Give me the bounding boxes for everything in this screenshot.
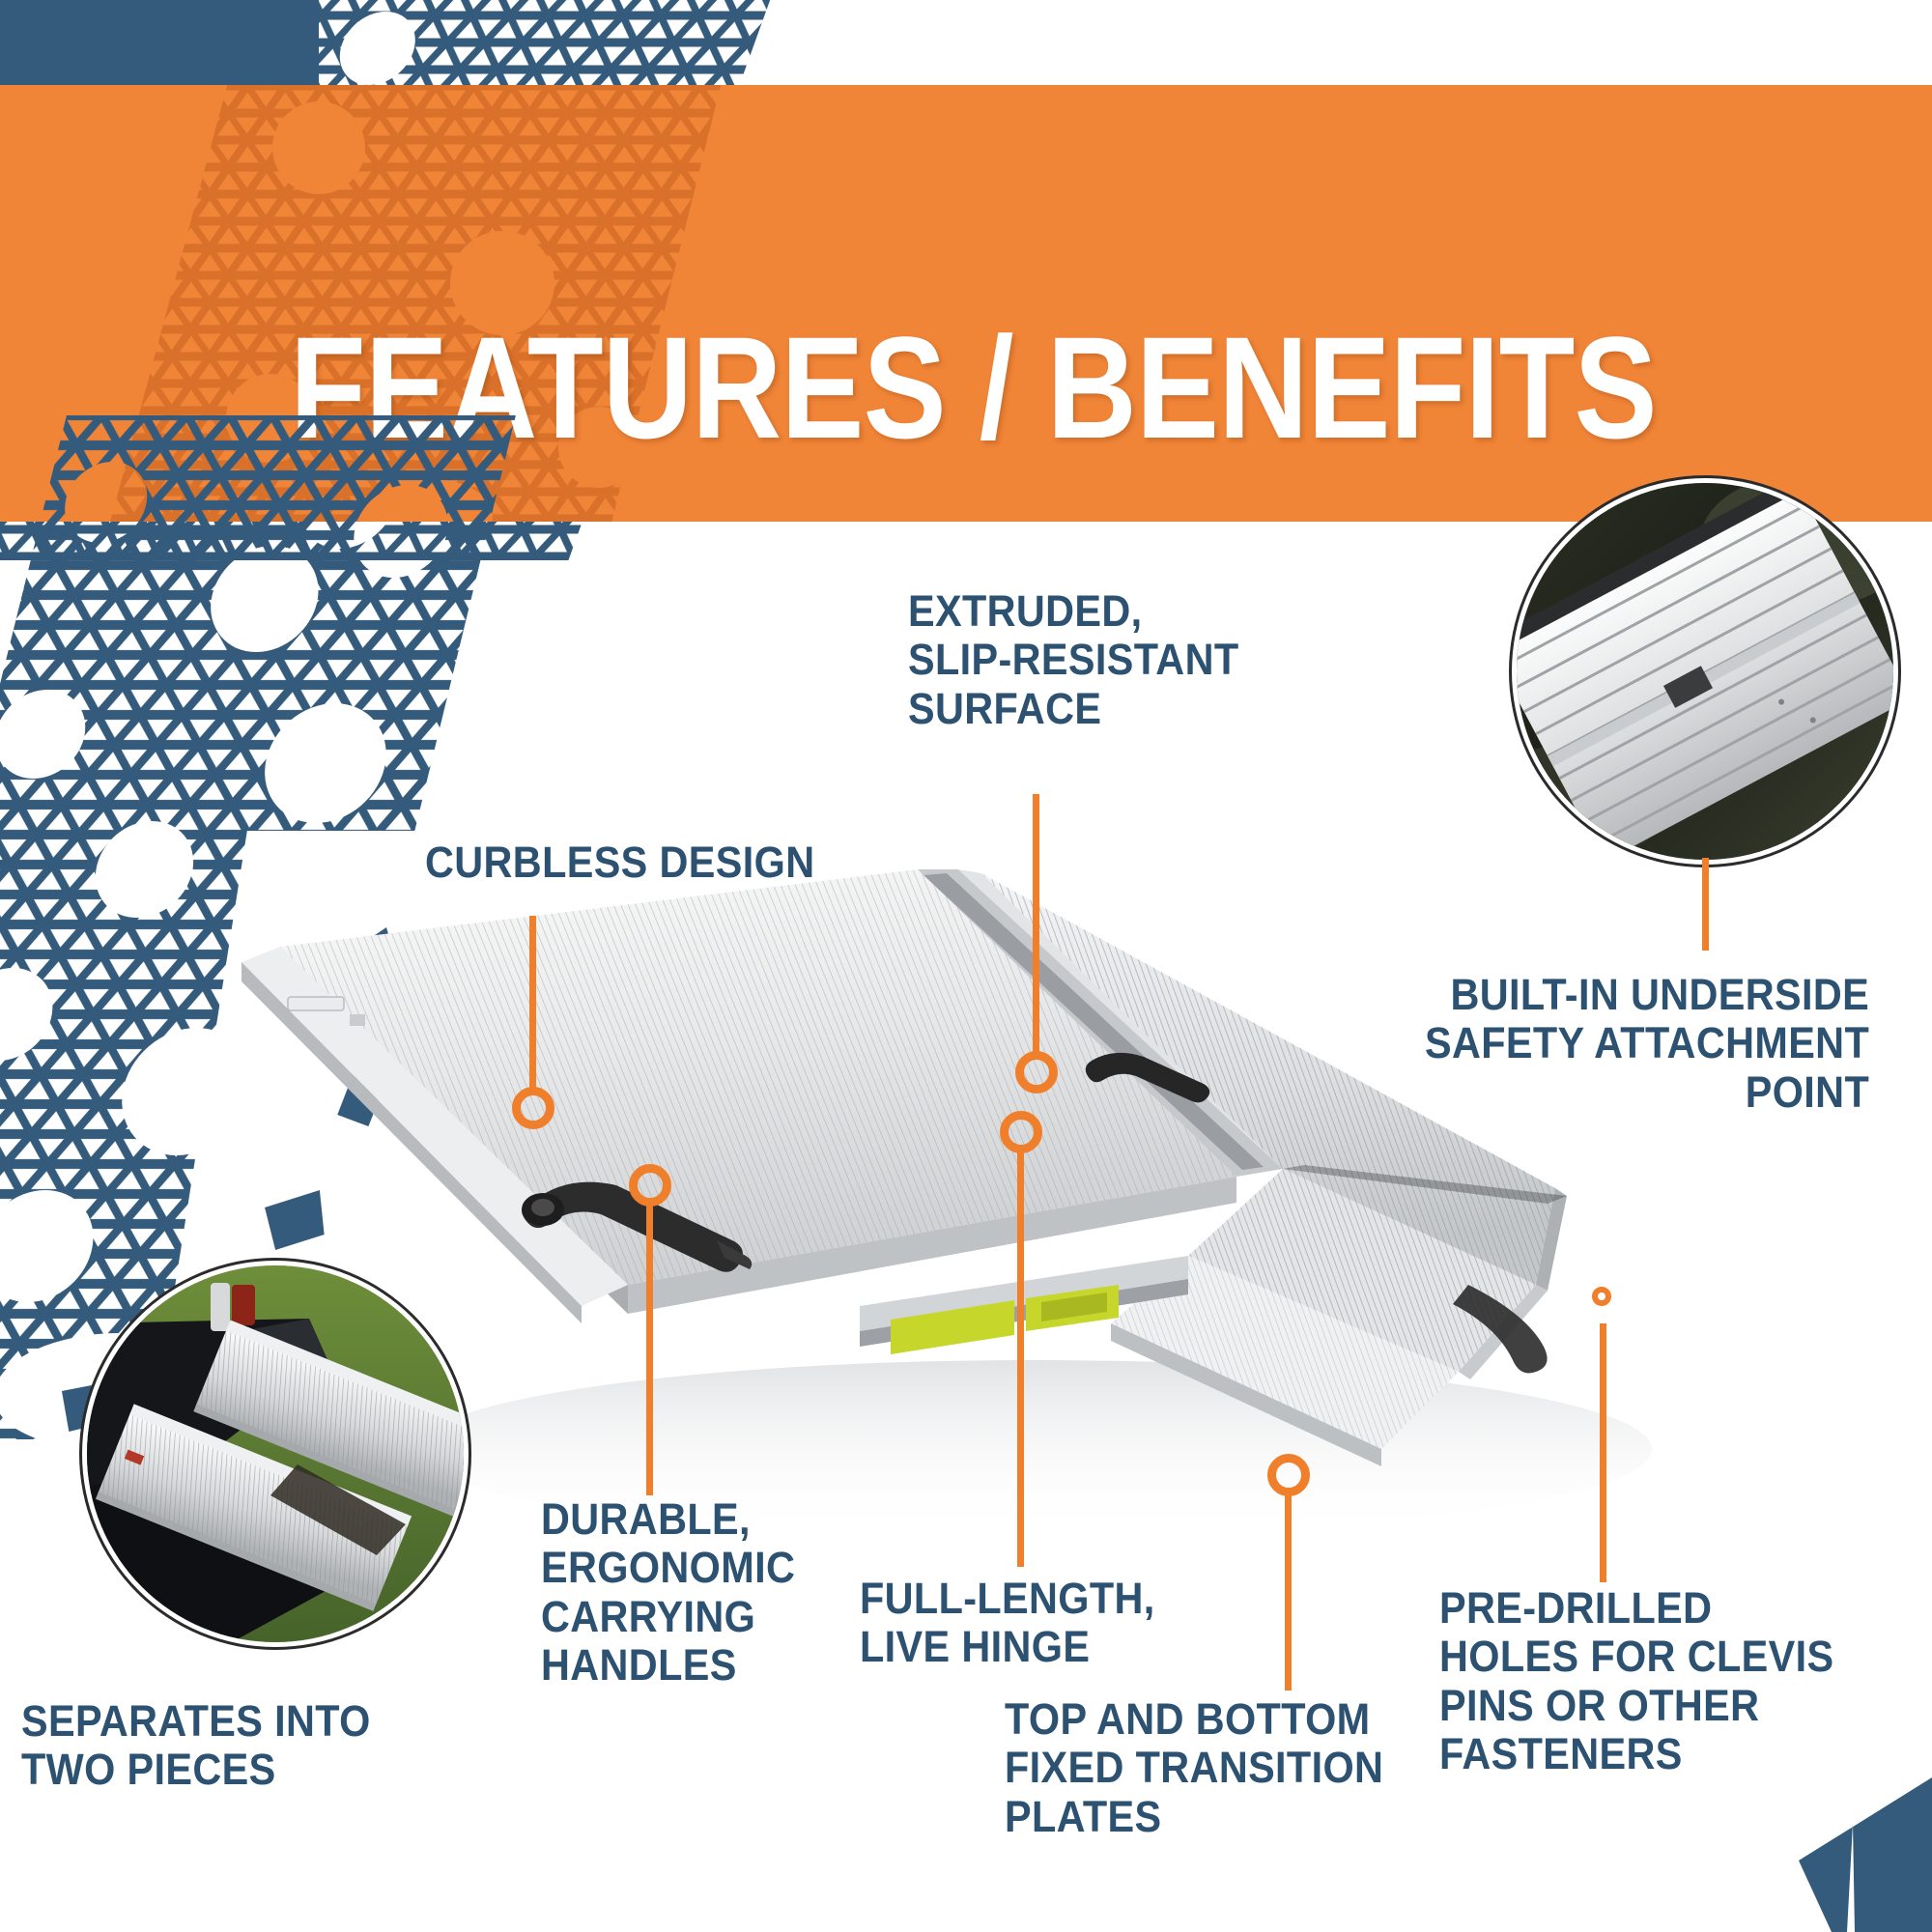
- callout-marker-hinge[interactable]: [1000, 1111, 1042, 1153]
- callout-line: TWO PIECES: [21, 1746, 371, 1794]
- callout-label-durable-ergonomic-carrying-handles: DURABLE, ERGONOMIC CARRYING HANDLES: [541, 1495, 795, 1690]
- callout-marker-predrilled[interactable]: [1592, 1287, 1611, 1306]
- callout-line: LIVE HINGE: [860, 1623, 1155, 1671]
- leader-line-builtin: [1702, 858, 1709, 951]
- callout-line: POINT: [1425, 1068, 1869, 1117]
- corner-shard-decoration: [1739, 1768, 1932, 1932]
- callout-label-top-and-bottom-fixed-transition-plates: TOP AND BOTTOM FIXED TRANSITION PLATES: [1005, 1695, 1383, 1841]
- callout-line: DURABLE,: [541, 1495, 795, 1544]
- leader-line-extruded: [1033, 794, 1039, 1057]
- callout-line: FULL-LENGTH,: [860, 1575, 1155, 1623]
- callout-line: FASTENERS: [1439, 1730, 1833, 1778]
- leader-line-hinge: [1017, 1150, 1024, 1567]
- callout-line: BUILT-IN UNDERSIDE: [1425, 971, 1869, 1019]
- inset-photo-underside-attachment: [1517, 483, 1893, 860]
- callout-line: SAFETY ATTACHMENT: [1425, 1019, 1869, 1067]
- corner-accent-block: [0, 0, 319, 92]
- page-title: FEATURES / BENEFITS: [290, 315, 1657, 460]
- callout-line: TOP AND BOTTOM: [1005, 1695, 1383, 1744]
- callout-line: CARRYING: [541, 1593, 795, 1641]
- leader-line-handles: [646, 1201, 653, 1495]
- callout-marker-plates[interactable]: [1267, 1454, 1310, 1496]
- callout-line: SURFACE: [908, 685, 1238, 733]
- callout-marker-curbless[interactable]: [512, 1087, 554, 1129]
- infographic-canvas: FEATURES / BENEFITS: [0, 0, 1932, 1932]
- callout-label-built-in-underside-safety-attachment-point: BUILT-IN UNDERSIDE SAFETY ATTACHMENT POI…: [1425, 971, 1869, 1117]
- callout-line: SLIP-RESISTANT: [908, 636, 1238, 684]
- leader-line-plates: [1285, 1492, 1292, 1690]
- leader-line-curbless: [529, 916, 536, 1092]
- callout-line: PRE-DRILLED: [1439, 1584, 1833, 1633]
- callout-line: PINS OR OTHER: [1439, 1682, 1833, 1730]
- callout-line: HANDLES: [541, 1641, 795, 1690]
- callout-line: CURBLESS DESIGN: [425, 838, 814, 887]
- callout-label-separates-into-two-pieces: SEPARATES INTO TWO PIECES: [21, 1697, 371, 1795]
- callout-marker-extruded[interactable]: [1015, 1051, 1058, 1094]
- callout-line: EXTRUDED,: [908, 587, 1238, 636]
- callout-line: ERGONOMIC: [541, 1544, 795, 1592]
- callout-label-pre-drilled-holes-for-clevis-pins-or-other-fasteners: PRE-DRILLED HOLES FOR CLEVIS PINS OR OTH…: [1439, 1584, 1833, 1779]
- callout-label-curbless-design: CURBLESS DESIGN: [425, 838, 814, 887]
- leader-line-predrilled: [1600, 1323, 1606, 1582]
- callout-line: HOLES FOR CLEVIS: [1439, 1633, 1833, 1681]
- callout-line: SEPARATES INTO: [21, 1697, 371, 1746]
- callout-line: FIXED TRANSITION: [1005, 1744, 1383, 1792]
- callout-marker-handles[interactable]: [629, 1164, 671, 1207]
- callout-line: PLATES: [1005, 1793, 1383, 1841]
- callout-label-extruded-slip-resistant-surface: EXTRUDED, SLIP-RESISTANT SURFACE: [908, 587, 1238, 733]
- callout-label-full-length-live-hinge: FULL-LENGTH, LIVE HINGE: [860, 1575, 1155, 1672]
- inset-photo-two-pieces-truck-bed: [87, 1265, 464, 1642]
- header-banner: FEATURES / BENEFITS: [0, 85, 1932, 522]
